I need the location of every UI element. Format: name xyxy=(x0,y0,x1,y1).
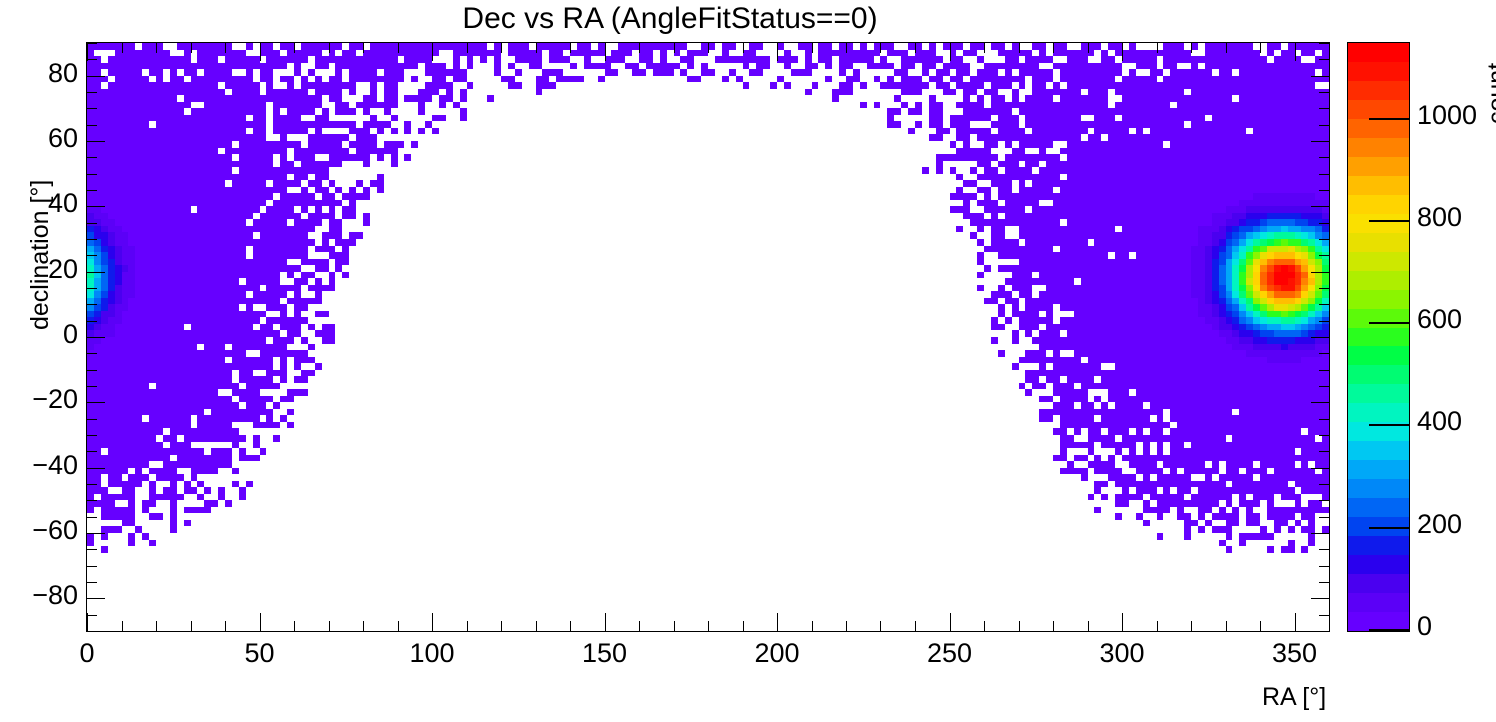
y-tick-minor xyxy=(87,517,97,518)
x-tick-minor-top xyxy=(1088,43,1089,53)
x-tick-major-top xyxy=(950,43,951,61)
y-tick-major xyxy=(87,206,105,207)
y-tick-minor-right xyxy=(1319,157,1329,158)
y-tick-minor-right xyxy=(1319,43,1329,44)
x-tick-label: 100 xyxy=(409,638,454,669)
x-tick-minor-top xyxy=(363,43,364,53)
y-tick-minor xyxy=(87,386,97,387)
root-canvas: Dec vs RA (AngleFitStatus==0) 806040200−… xyxy=(0,0,1496,722)
x-tick-minor xyxy=(536,621,537,631)
y-tick-minor-right xyxy=(1319,239,1329,240)
x-tick-minor-top xyxy=(1053,43,1054,53)
colorbar-band xyxy=(1348,346,1409,365)
x-tick-minor xyxy=(191,621,192,631)
x-tick-minor xyxy=(812,621,813,631)
y-tick-minor-right xyxy=(1319,549,1329,550)
x-tick-label: 0 xyxy=(79,638,94,669)
x-tick-minor-top xyxy=(880,43,881,53)
y-tick-minor-right xyxy=(1319,451,1329,452)
x-tick-minor xyxy=(570,621,571,631)
x-tick-label: 250 xyxy=(927,638,972,669)
y-tick-minor-right xyxy=(1319,190,1329,191)
y-tick-minor-right xyxy=(1319,484,1329,485)
y-tick-minor-right xyxy=(1319,566,1329,567)
x-tick-minor-top xyxy=(846,43,847,53)
colorbar-band xyxy=(1348,441,1409,460)
x-tick-minor xyxy=(363,621,364,631)
y-tick-label: −40 xyxy=(32,450,78,481)
colorbar-tick-label: 600 xyxy=(1417,304,1462,335)
x-tick-label: 150 xyxy=(582,638,627,669)
y-tick-minor xyxy=(87,255,97,256)
x-tick-minor-top xyxy=(1019,43,1020,53)
x-tick-major-top xyxy=(432,43,433,61)
y-tick-minor xyxy=(87,190,97,191)
colorbar-band xyxy=(1348,574,1409,593)
y-tick-minor xyxy=(87,566,97,567)
colorbar-band xyxy=(1348,119,1409,138)
x-axis-title: RA [°] xyxy=(1262,683,1326,712)
x-tick-minor xyxy=(846,621,847,631)
x-tick-minor xyxy=(398,621,399,631)
x-tick-minor-top xyxy=(156,43,157,53)
y-tick-minor-right xyxy=(1319,125,1329,126)
y-tick-minor-right xyxy=(1319,304,1329,305)
x-tick-minor-top xyxy=(984,43,985,53)
y-tick-major xyxy=(87,76,105,77)
x-tick-major xyxy=(432,613,433,631)
y-tick-minor-right xyxy=(1319,615,1329,616)
colorbar-band xyxy=(1348,138,1409,157)
x-tick-minor xyxy=(225,621,226,631)
y-tick-major-right xyxy=(1311,402,1329,403)
y-tick-minor-right xyxy=(1319,517,1329,518)
colorbar-tick-label: 800 xyxy=(1417,202,1462,233)
x-tick-minor-top xyxy=(743,43,744,53)
x-tick-minor-top xyxy=(1191,43,1192,53)
colorbar-band xyxy=(1348,176,1409,195)
x-tick-major xyxy=(87,613,88,631)
y-tick-major xyxy=(87,141,105,142)
y-tick-minor xyxy=(87,174,97,175)
x-tick-minor-top xyxy=(225,43,226,53)
colorbar-band xyxy=(1348,62,1409,81)
x-tick-minor-top xyxy=(536,43,537,53)
y-tick-minor-right xyxy=(1319,631,1329,632)
colorbar-band xyxy=(1348,498,1409,517)
colorbar-gradient xyxy=(1347,42,1410,632)
colorbar-band xyxy=(1348,271,1409,290)
y-tick-minor-right xyxy=(1319,321,1329,322)
y-tick-label: −80 xyxy=(32,580,78,611)
x-tick-major-top xyxy=(260,43,261,61)
x-tick-minor-top xyxy=(708,43,709,53)
colorbar-band xyxy=(1348,536,1409,555)
x-tick-minor-top xyxy=(915,43,916,53)
y-tick-major xyxy=(87,598,105,599)
y-tick-minor xyxy=(87,631,97,632)
colorbar-tick xyxy=(1369,220,1410,222)
y-tick-major xyxy=(87,468,105,469)
y-tick-minor xyxy=(87,43,97,44)
x-tick-minor xyxy=(294,621,295,631)
x-tick-major xyxy=(260,613,261,631)
x-tick-major-top xyxy=(777,43,778,61)
y-tick-minor xyxy=(87,321,97,322)
y-tick-major-right xyxy=(1311,76,1329,77)
y-tick-minor xyxy=(87,92,97,93)
x-tick-minor xyxy=(1329,621,1330,631)
x-tick-minor xyxy=(122,621,123,631)
y-tick-minor xyxy=(87,419,97,420)
x-tick-minor-top xyxy=(1260,43,1261,53)
colorbar-tick xyxy=(1369,424,1410,426)
y-tick-minor xyxy=(87,435,97,436)
x-tick-minor-top xyxy=(122,43,123,53)
y-tick-major-right xyxy=(1311,598,1329,599)
y-tick-minor xyxy=(87,549,97,550)
x-tick-major xyxy=(777,613,778,631)
y-axis-title: declination [°] xyxy=(26,180,55,330)
colorbar-band xyxy=(1348,460,1409,479)
x-tick-minor xyxy=(1226,621,1227,631)
y-tick-major-right xyxy=(1311,206,1329,207)
x-tick-minor xyxy=(743,621,744,631)
heatmap-canvas xyxy=(87,43,1329,631)
y-tick-minor xyxy=(87,108,97,109)
x-tick-minor xyxy=(156,621,157,631)
y-tick-minor xyxy=(87,59,97,60)
x-tick-minor xyxy=(501,621,502,631)
colorbar-tick xyxy=(1369,322,1410,324)
colorbar-band xyxy=(1348,479,1409,498)
colorbar-band xyxy=(1348,309,1409,328)
y-tick-minor xyxy=(87,223,97,224)
x-tick-minor xyxy=(915,621,916,631)
x-tick-minor xyxy=(708,621,709,631)
x-tick-minor-top xyxy=(812,43,813,53)
y-tick-minor-right xyxy=(1319,582,1329,583)
x-tick-minor-top xyxy=(467,43,468,53)
colorbar-band xyxy=(1348,290,1409,309)
colorbar-axis-title: count xyxy=(1483,63,1496,124)
y-tick-minor-right xyxy=(1319,353,1329,354)
x-tick-minor xyxy=(1088,621,1089,631)
y-tick-minor-right xyxy=(1319,386,1329,387)
y-tick-minor xyxy=(87,288,97,289)
colorbar xyxy=(1347,42,1410,632)
x-tick-major xyxy=(605,613,606,631)
x-tick-label: 200 xyxy=(754,638,799,669)
y-tick-major xyxy=(87,272,105,273)
y-tick-label: −60 xyxy=(32,515,78,546)
y-tick-minor-right xyxy=(1319,92,1329,93)
x-tick-minor xyxy=(329,621,330,631)
y-tick-major-right xyxy=(1311,337,1329,338)
y-tick-minor-right xyxy=(1319,255,1329,256)
y-tick-major-right xyxy=(1311,533,1329,534)
y-tick-label: 60 xyxy=(48,123,78,154)
x-tick-major-top xyxy=(605,43,606,61)
y-tick-major xyxy=(87,533,105,534)
y-tick-label: 0 xyxy=(63,319,78,350)
x-tick-minor-top xyxy=(329,43,330,53)
colorbar-tick-label: 1000 xyxy=(1417,100,1477,131)
colorbar-tick-label: 400 xyxy=(1417,406,1462,437)
x-tick-minor xyxy=(467,621,468,631)
colorbar-band xyxy=(1348,384,1409,403)
y-tick-minor xyxy=(87,125,97,126)
y-tick-minor-right xyxy=(1319,288,1329,289)
y-tick-minor-right xyxy=(1319,223,1329,224)
y-tick-minor xyxy=(87,370,97,371)
x-tick-label: 300 xyxy=(1099,638,1144,669)
colorbar-band xyxy=(1348,43,1409,62)
x-tick-minor xyxy=(639,621,640,631)
y-tick-label: −20 xyxy=(32,384,78,415)
y-tick-minor xyxy=(87,615,97,616)
x-tick-major xyxy=(1122,613,1123,631)
y-tick-minor xyxy=(87,304,97,305)
x-tick-minor-top xyxy=(639,43,640,53)
y-tick-minor-right xyxy=(1319,419,1329,420)
x-tick-minor-top xyxy=(1226,43,1227,53)
x-tick-major xyxy=(950,613,951,631)
x-tick-minor-top xyxy=(398,43,399,53)
colorbar-tick xyxy=(1369,118,1410,120)
y-tick-major xyxy=(87,337,105,338)
x-tick-major xyxy=(1295,613,1296,631)
x-tick-minor xyxy=(1191,621,1192,631)
colorbar-tick xyxy=(1369,629,1410,631)
x-tick-major-top xyxy=(1295,43,1296,61)
x-tick-minor-top xyxy=(674,43,675,53)
x-tick-minor xyxy=(1053,621,1054,631)
colorbar-band xyxy=(1348,403,1409,422)
y-tick-minor xyxy=(87,500,97,501)
colorbar-tick xyxy=(1369,527,1410,529)
x-tick-minor-top xyxy=(501,43,502,53)
x-tick-major-top xyxy=(87,43,88,61)
colorbar-band xyxy=(1348,100,1409,119)
colorbar-tick-label: 200 xyxy=(1417,509,1462,540)
x-tick-minor xyxy=(880,621,881,631)
y-tick-minor-right xyxy=(1319,59,1329,60)
y-tick-minor-right xyxy=(1319,370,1329,371)
x-tick-minor-top xyxy=(1329,43,1330,53)
x-tick-minor xyxy=(674,621,675,631)
y-tick-minor xyxy=(87,353,97,354)
y-tick-minor xyxy=(87,157,97,158)
colorbar-band xyxy=(1348,195,1409,214)
colorbar-tick-label: 0 xyxy=(1417,611,1432,642)
x-tick-minor-top xyxy=(1157,43,1158,53)
y-tick-minor xyxy=(87,484,97,485)
colorbar-band xyxy=(1348,81,1409,100)
x-tick-minor-top xyxy=(191,43,192,53)
x-tick-minor xyxy=(1157,621,1158,631)
colorbar-band xyxy=(1348,252,1409,271)
colorbar-band xyxy=(1348,328,1409,346)
y-tick-minor-right xyxy=(1319,435,1329,436)
y-tick-minor-right xyxy=(1319,108,1329,109)
x-tick-minor xyxy=(1260,621,1261,631)
x-tick-major-top xyxy=(1122,43,1123,61)
colorbar-band xyxy=(1348,233,1409,252)
y-tick-label: 80 xyxy=(48,58,78,89)
y-tick-minor-right xyxy=(1319,500,1329,501)
y-tick-minor xyxy=(87,582,97,583)
y-tick-major-right xyxy=(1311,468,1329,469)
x-tick-minor-top xyxy=(294,43,295,53)
x-tick-label: 50 xyxy=(244,638,274,669)
x-tick-minor-top xyxy=(570,43,571,53)
page-title: Dec vs RA (AngleFitStatus==0) xyxy=(0,2,1340,36)
y-tick-minor xyxy=(87,451,97,452)
x-tick-minor xyxy=(984,621,985,631)
x-tick-label: 350 xyxy=(1272,638,1317,669)
colorbar-band xyxy=(1348,593,1409,612)
colorbar-band xyxy=(1348,214,1409,233)
x-tick-minor xyxy=(1019,621,1020,631)
colorbar-band xyxy=(1348,365,1409,384)
y-tick-major-right xyxy=(1311,272,1329,273)
colorbar-band xyxy=(1348,555,1409,574)
y-tick-minor xyxy=(87,239,97,240)
plot-frame xyxy=(86,42,1330,632)
y-tick-major xyxy=(87,402,105,403)
colorbar-band xyxy=(1348,157,1409,176)
y-tick-major-right xyxy=(1311,141,1329,142)
y-tick-minor-right xyxy=(1319,174,1329,175)
